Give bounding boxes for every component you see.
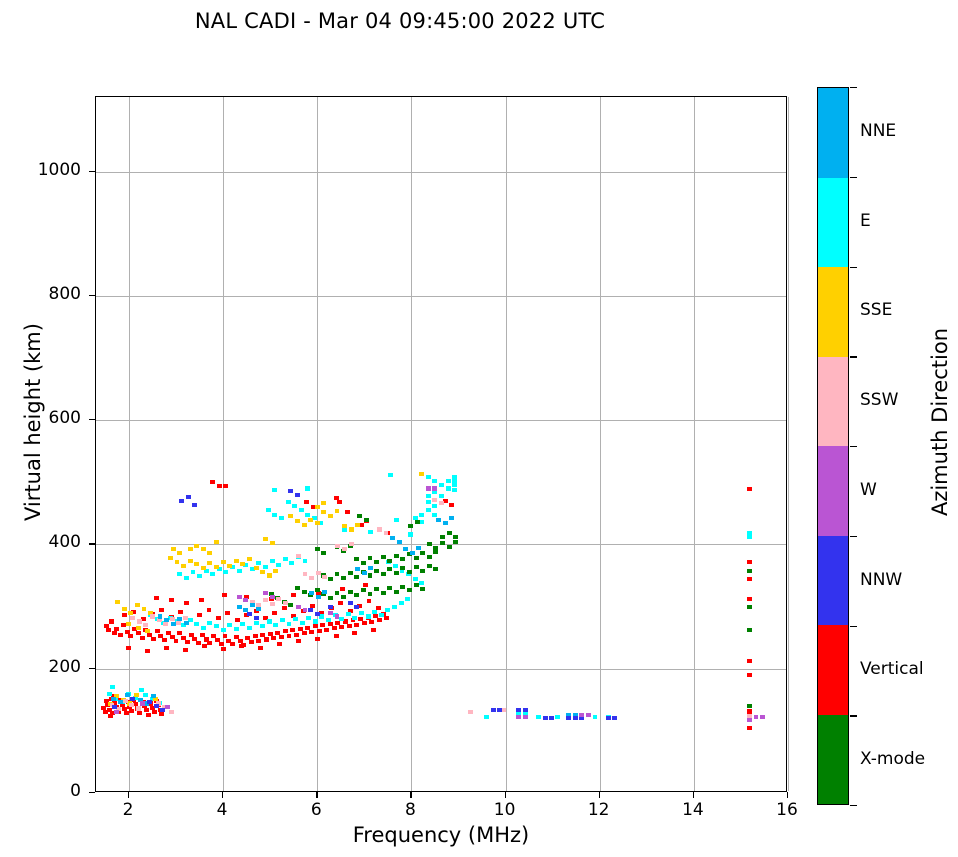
data-point (235, 618, 240, 622)
data-point (129, 703, 134, 707)
data-point (271, 636, 276, 640)
data-point (157, 618, 162, 622)
data-point (162, 638, 167, 642)
x-tick-label: 10 (475, 800, 535, 820)
data-point (181, 564, 186, 568)
data-point (388, 473, 393, 477)
data-point (296, 554, 301, 558)
data-point (414, 565, 419, 569)
data-point (415, 520, 420, 524)
data-point (349, 542, 354, 546)
data-point (111, 697, 116, 701)
x-tick-label: 4 (192, 800, 252, 820)
data-point (210, 480, 215, 484)
colorbar-segment-vertical (818, 625, 848, 715)
data-point (523, 715, 528, 719)
data-point (543, 716, 548, 720)
data-point (432, 486, 437, 490)
data-point (364, 518, 369, 522)
data-point (210, 572, 215, 576)
y-tick (89, 295, 95, 296)
data-point (112, 631, 117, 635)
data-point (368, 566, 373, 570)
data-point (142, 607, 147, 611)
data-point (214, 565, 219, 569)
data-point (315, 521, 320, 525)
data-point (377, 618, 382, 622)
y-tick (89, 543, 95, 544)
data-point (747, 597, 752, 601)
data-point (277, 642, 282, 646)
data-point (372, 610, 377, 614)
data-point (321, 551, 326, 555)
data-point (240, 562, 245, 566)
data-point (419, 513, 424, 517)
data-point (185, 640, 190, 644)
data-point (419, 520, 424, 524)
data-point (304, 500, 309, 504)
data-point (177, 572, 182, 576)
data-point (254, 616, 259, 620)
y-tick-label: 200 (11, 657, 81, 677)
data-point (315, 612, 320, 616)
data-point (110, 685, 115, 689)
data-point (426, 486, 431, 490)
data-point (379, 613, 384, 617)
data-point (394, 518, 399, 522)
data-point (288, 603, 293, 607)
colorbar-segment-w (818, 446, 848, 536)
data-point (159, 712, 164, 716)
data-point (407, 570, 412, 574)
data-point (151, 694, 156, 698)
data-point (367, 599, 372, 603)
data-point (354, 605, 359, 609)
data-point (357, 514, 362, 518)
data-point (747, 659, 752, 663)
data-point (440, 541, 445, 545)
data-point (377, 527, 382, 531)
data-point (328, 605, 333, 609)
data-point (747, 726, 752, 730)
data-point (399, 601, 404, 605)
data-point (316, 571, 321, 575)
data-point (468, 710, 473, 714)
data-point (381, 572, 386, 576)
data-point (171, 622, 176, 626)
data-point (125, 693, 130, 697)
data-point (348, 571, 353, 575)
colorbar-label-nnw: NNW (860, 570, 902, 590)
data-point (237, 595, 242, 599)
data-point (449, 503, 454, 507)
data-point (272, 611, 277, 615)
data-point (347, 624, 352, 628)
data-point (201, 547, 206, 551)
data-point (747, 673, 752, 677)
data-point (341, 595, 346, 599)
data-point (227, 564, 232, 568)
data-point (747, 577, 752, 581)
data-point (361, 588, 366, 592)
data-point (321, 501, 326, 505)
colorbar-label-sse: SSE (860, 300, 892, 320)
y-tick (89, 419, 95, 420)
data-point (295, 493, 300, 497)
data-point (128, 634, 133, 638)
data-point (279, 516, 284, 520)
x-tick-label: 16 (757, 800, 817, 820)
x-tick-label: 12 (569, 800, 629, 820)
data-point (295, 519, 300, 523)
data-point (754, 715, 759, 719)
colorbar-segment-nnw (818, 536, 848, 626)
data-point (387, 559, 392, 563)
data-point (207, 551, 212, 555)
data-point (186, 495, 191, 499)
data-point (566, 716, 571, 720)
data-point (221, 628, 226, 632)
data-point (303, 559, 308, 563)
x-tick (410, 792, 411, 798)
data-point (747, 628, 752, 632)
data-point (303, 608, 308, 612)
data-point (114, 710, 119, 714)
data-point (363, 583, 368, 587)
data-point (165, 705, 170, 709)
data-point (263, 537, 268, 541)
data-point (223, 484, 228, 488)
colorbar-label-ssw: SSW (860, 390, 898, 410)
x-tick (316, 792, 317, 798)
data-point (137, 711, 142, 715)
data-point (273, 623, 278, 627)
data-point (447, 545, 452, 549)
data-point (354, 623, 359, 627)
data-point (192, 503, 197, 507)
data-point (359, 611, 364, 615)
data-point (288, 514, 293, 518)
data-point (183, 616, 188, 620)
data-point (196, 641, 201, 645)
data-point (237, 569, 242, 573)
data-point (354, 557, 359, 561)
data-point (394, 590, 399, 594)
data-point (342, 547, 347, 551)
data-point (276, 597, 281, 601)
data-point (322, 590, 327, 594)
data-point (163, 622, 168, 626)
data-point (300, 621, 305, 625)
data-point (177, 551, 182, 555)
data-point (453, 540, 458, 544)
data-point (294, 633, 299, 637)
data-point (207, 621, 212, 625)
data-point (184, 601, 189, 605)
colorbar-label-e: E (860, 211, 871, 231)
data-point (270, 559, 275, 563)
data-point (335, 544, 340, 548)
x-tick-label: 8 (380, 800, 440, 820)
data-point (280, 618, 285, 622)
data-point (339, 617, 344, 621)
gridline-vertical (788, 97, 789, 791)
data-point (112, 705, 117, 709)
data-point (201, 626, 206, 630)
data-point (316, 595, 321, 599)
data-point (410, 551, 415, 555)
data-point (306, 616, 311, 620)
data-point (326, 618, 331, 622)
data-point (171, 547, 176, 551)
data-point (432, 479, 437, 483)
data-point (374, 560, 379, 564)
data-point (143, 623, 148, 627)
data-point (573, 716, 578, 720)
data-point (194, 562, 199, 566)
data-point (177, 617, 182, 621)
data-point (291, 593, 296, 597)
data-point (309, 591, 314, 595)
data-point (549, 716, 554, 720)
data-point (303, 572, 308, 576)
data-point (747, 569, 752, 573)
data-point (432, 498, 437, 502)
data-point (523, 708, 528, 712)
data-point (164, 618, 169, 622)
data-point (260, 570, 265, 574)
data-point (516, 708, 521, 712)
data-point (159, 608, 164, 612)
data-point (612, 716, 617, 720)
data-point (234, 627, 239, 631)
data-point (433, 550, 438, 554)
data-point (419, 581, 424, 585)
data-point (392, 605, 397, 609)
data-point (123, 699, 128, 703)
data-point (130, 697, 135, 701)
data-point (484, 715, 489, 719)
data-point (234, 559, 239, 563)
data-point (169, 598, 174, 602)
data-point (328, 611, 333, 615)
y-tick (89, 792, 95, 793)
data-point (263, 598, 268, 602)
colorbar-tick (850, 446, 857, 447)
data-point (263, 591, 268, 595)
data-point (225, 611, 230, 615)
data-point (427, 542, 432, 546)
data-point (108, 714, 113, 718)
data-point (152, 710, 157, 714)
data-point (136, 626, 141, 630)
data-point (139, 688, 144, 692)
data-point (136, 706, 141, 710)
data-point (354, 575, 359, 579)
data-point (337, 500, 342, 504)
data-point (420, 569, 425, 573)
x-tick (128, 792, 129, 798)
data-point (315, 588, 320, 592)
data-point (305, 486, 310, 490)
data-point (258, 646, 263, 650)
colorbar-segment-x-mode (818, 715, 848, 805)
y-tick-label: 0 (11, 781, 81, 801)
data-point (579, 713, 584, 717)
data-point (362, 571, 367, 575)
data-point (256, 607, 261, 611)
data-point (207, 561, 212, 565)
data-point (426, 494, 431, 498)
data-point (747, 704, 752, 708)
data-point (427, 564, 432, 568)
data-point (247, 626, 252, 630)
data-point (256, 561, 261, 565)
data-point (349, 527, 354, 531)
data-point (439, 494, 444, 498)
data-point (256, 639, 261, 643)
data-point (282, 606, 287, 610)
data-point (207, 641, 212, 645)
x-tick-label: 2 (98, 800, 158, 820)
data-point (270, 602, 275, 606)
data-point (254, 621, 259, 625)
data-point (345, 510, 350, 514)
data-point (151, 637, 156, 641)
data-point (267, 619, 272, 623)
data-point (760, 715, 765, 719)
data-point (287, 622, 292, 626)
data-point (260, 624, 265, 628)
data-point (249, 640, 254, 644)
data-point (408, 524, 413, 528)
data-point (216, 616, 221, 620)
x-tick-label: 6 (286, 800, 346, 820)
data-point (335, 572, 340, 576)
colorbar-label-w: W (860, 480, 877, 500)
data-point (194, 544, 199, 548)
data-point (115, 600, 120, 604)
data-point (416, 546, 421, 550)
data-point (109, 619, 114, 623)
data-point (433, 567, 438, 571)
data-point (366, 614, 371, 618)
colorbar-segment-nne (818, 88, 848, 178)
data-point (452, 488, 457, 492)
data-point (247, 557, 252, 561)
colorbar-tick (850, 715, 857, 716)
data-point (302, 631, 307, 635)
data-point (296, 605, 301, 609)
scatter-data-layer (96, 97, 786, 791)
data-point (368, 556, 373, 560)
data-point (239, 644, 244, 648)
data-point (237, 605, 242, 609)
data-point (355, 567, 360, 571)
data-point (427, 555, 432, 559)
data-point (342, 524, 347, 528)
data-point (118, 700, 123, 704)
data-point (174, 639, 179, 643)
data-point (140, 701, 145, 705)
data-point (339, 625, 344, 629)
data-point (332, 626, 337, 630)
data-point (315, 637, 320, 641)
data-point (387, 567, 392, 571)
colorbar-segment-sse (818, 267, 848, 357)
data-point (400, 585, 405, 589)
data-point (289, 561, 294, 565)
data-point (175, 560, 180, 564)
data-point (385, 608, 390, 612)
data-point (443, 521, 448, 525)
data-point (747, 718, 752, 722)
colorbar-label-x-mode: X-mode (860, 749, 925, 769)
data-point (128, 611, 133, 615)
data-point (308, 518, 313, 522)
data-point (348, 601, 353, 605)
data-point (201, 566, 206, 570)
data-point (288, 489, 293, 493)
data-point (143, 693, 148, 697)
data-point (426, 475, 431, 479)
data-point (606, 716, 611, 720)
data-point (122, 607, 127, 611)
data-point (403, 547, 408, 551)
data-point (221, 560, 226, 564)
data-point (334, 634, 339, 638)
data-point (247, 612, 252, 616)
data-point (272, 488, 277, 492)
data-point (279, 635, 284, 639)
data-point (145, 649, 150, 653)
colorbar-title: Azimuth Direction (928, 272, 952, 572)
data-point (283, 601, 288, 605)
data-point (340, 587, 345, 591)
y-tick (89, 668, 95, 669)
data-point (397, 540, 402, 544)
data-point (408, 532, 413, 536)
data-point (286, 500, 291, 504)
colorbar-label-nne: NNE (860, 121, 896, 141)
data-point (140, 636, 145, 640)
data-point (264, 637, 269, 641)
data-point (419, 472, 424, 476)
data-point (381, 591, 386, 595)
data-point (230, 642, 235, 646)
data-point (287, 634, 292, 638)
x-tick (599, 792, 600, 798)
data-point (315, 505, 320, 509)
chart-title: NAL CADI - Mar 04 09:45:00 2022 UTC (0, 9, 800, 33)
y-axis-title: Virtual height (km) (21, 272, 45, 572)
x-tick (222, 792, 223, 798)
data-point (420, 587, 425, 591)
data-point (368, 573, 373, 577)
data-point (346, 612, 351, 616)
data-point (202, 644, 207, 648)
data-point (390, 536, 395, 540)
data-point (593, 715, 598, 719)
data-point (199, 598, 204, 602)
data-point (309, 630, 314, 634)
data-point (154, 704, 159, 708)
data-point (352, 631, 357, 635)
colorbar-label-vertical: Vertical (860, 659, 924, 679)
data-point (436, 518, 441, 522)
data-point (299, 508, 304, 512)
ionogram-figure: NAL CADI - Mar 04 09:45:00 2022 UTC 2468… (0, 0, 958, 857)
